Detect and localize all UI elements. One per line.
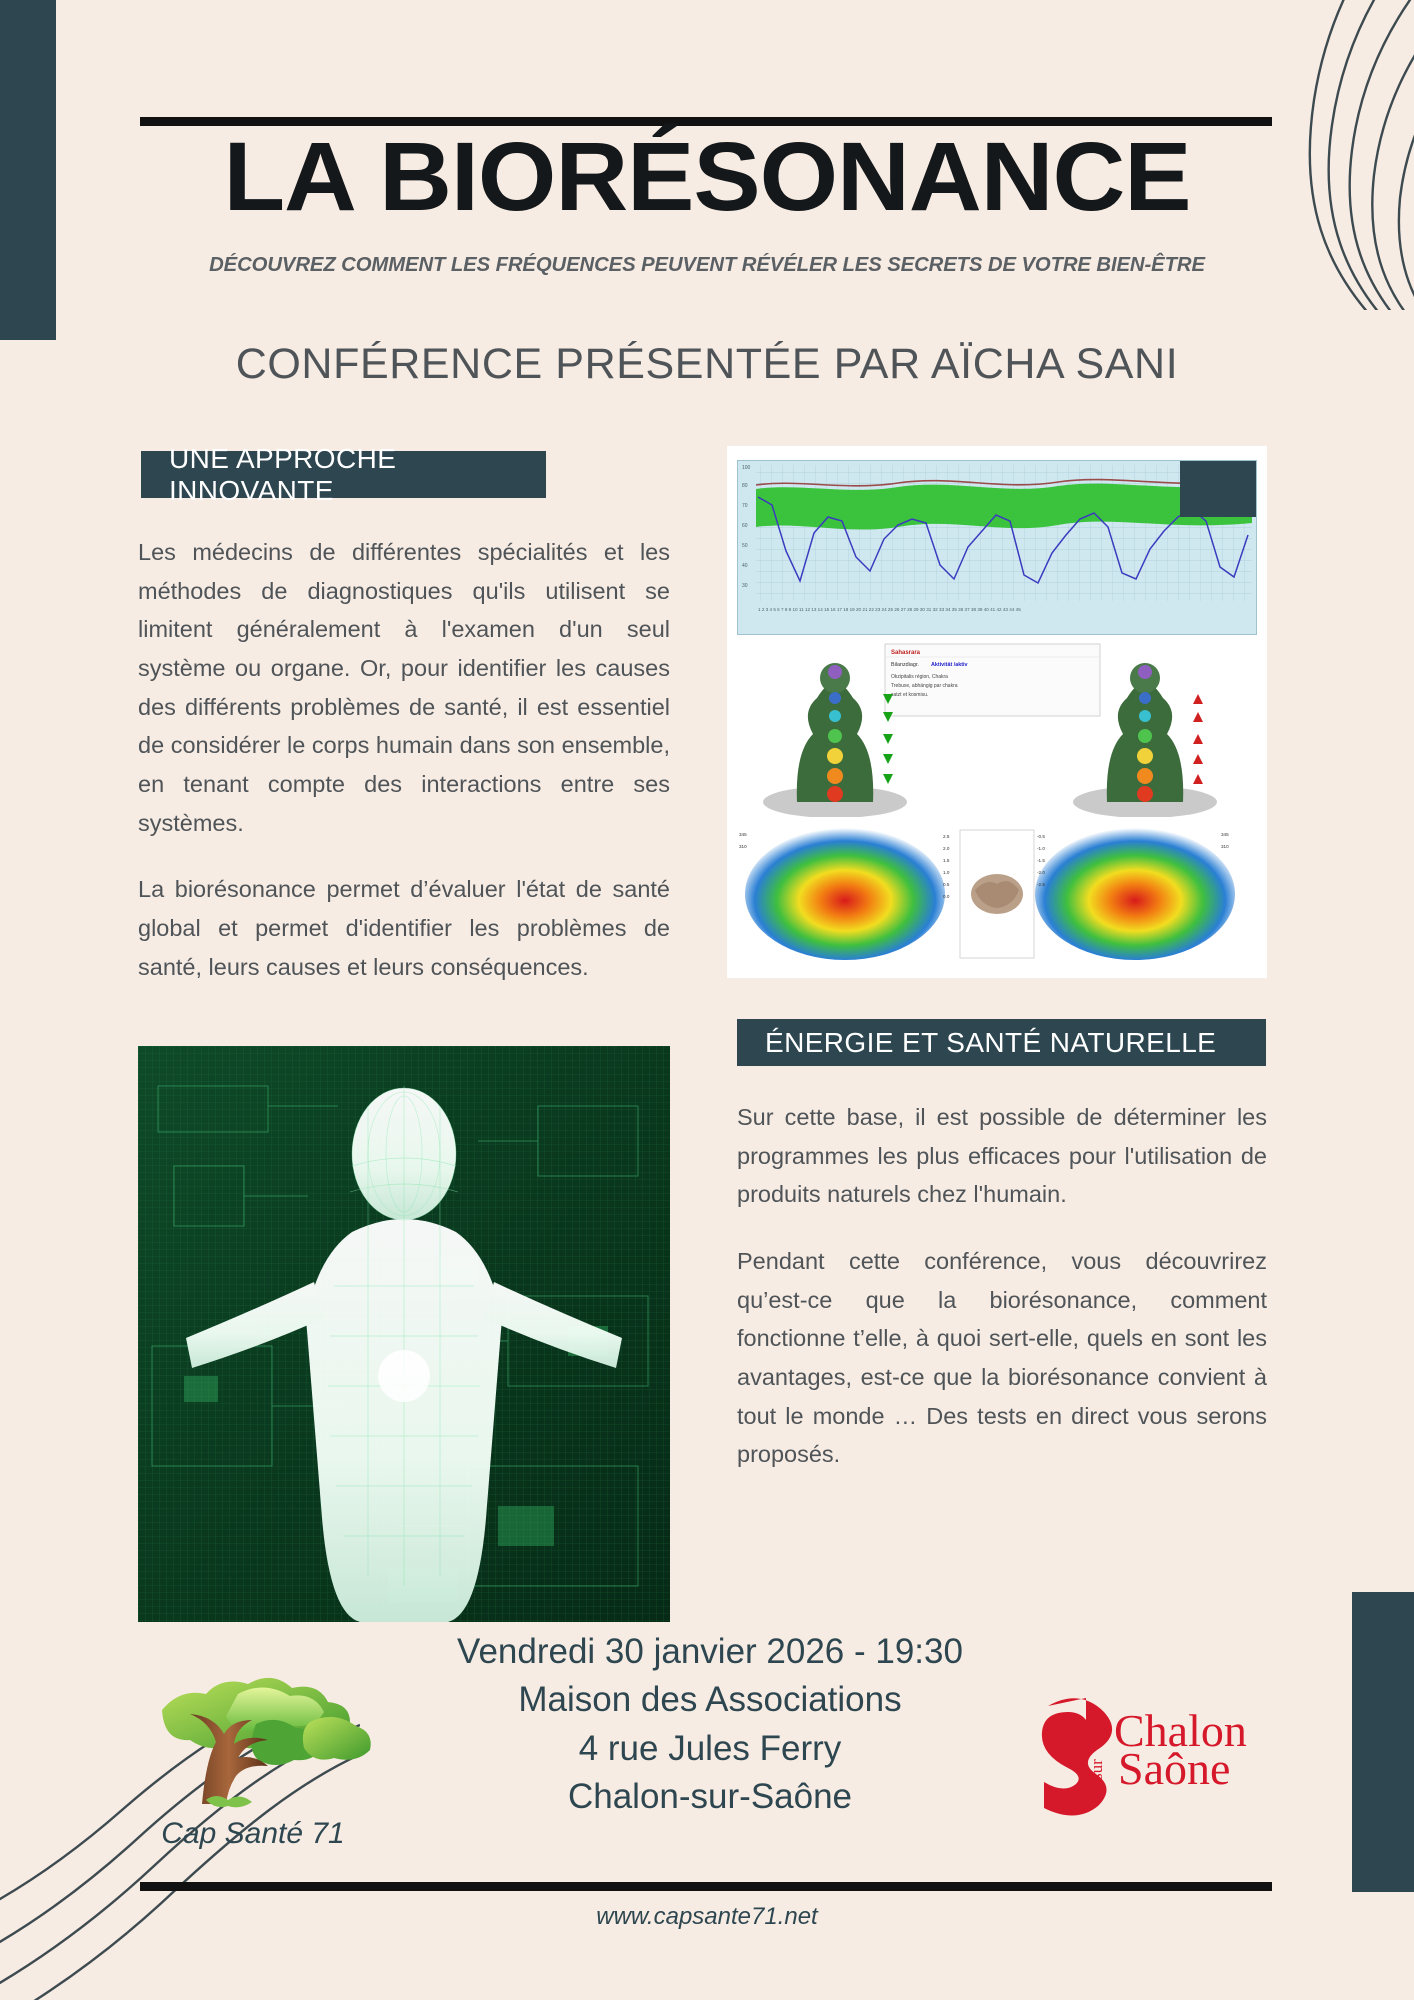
- right-paragraph-2: Pendant cette conférence, vous découvrir…: [737, 1242, 1267, 1474]
- wireframe-body-scan-image: [138, 1046, 670, 1622]
- svg-text:2.0: 2.0: [943, 846, 950, 851]
- wireframe-body-svg: [138, 1046, 670, 1622]
- svg-text:-0.5: -0.5: [1037, 834, 1045, 839]
- svg-text:0.0: 0.0: [943, 894, 950, 899]
- svg-text:-1.5: -1.5: [1037, 858, 1045, 863]
- conference-presenter-line: CONFÉRENCE PRÉSENTÉE PAR AÏCHA SANI: [0, 340, 1414, 389]
- svg-text:-1.0: -1.0: [1037, 846, 1045, 851]
- tree-icon: [128, 1676, 378, 1816]
- svg-text:-2.5: -2.5: [1037, 882, 1045, 887]
- left-paragraph-2: La biorésonance permet d’évaluer l'état …: [138, 870, 670, 986]
- section-header-une-approche-innovante: UNE APPROCHE INNOVANTE: [141, 451, 546, 498]
- svg-text:80: 80: [742, 483, 748, 489]
- svg-text:1 2 3 4 5 6 7 8 9 10 11 12 13: 1 2 3 4 5 6 7 8 9 10 11 12 13 14 15 16 1…: [758, 607, 1021, 612]
- event-street: 4 rue Jules Ferry: [360, 1725, 1060, 1773]
- svg-text:0.5: 0.5: [943, 882, 950, 887]
- event-details: Vendredi 30 janvier 2026 - 19:30 Maison …: [360, 1628, 1060, 1821]
- svg-text:-2.0: -2.0: [1037, 870, 1045, 875]
- cap-sante-71-logo: Cap Santé 71: [128, 1676, 378, 1851]
- footer-rule: [140, 1882, 1272, 1891]
- svg-text:Bilanzdiagr.: Bilanzdiagr.: [891, 662, 919, 668]
- svg-text:1.5: 1.5: [943, 858, 950, 863]
- screenshot-chakra-panel: Sahasrara Bilanzdiagr. Aktivität /aktiv …: [735, 642, 1259, 817]
- svg-text:2.5: 2.5: [943, 834, 950, 839]
- chart-svg: 1008070 605040 30 1 2 3 4 5 6 7 8 9 10 1…: [738, 461, 1256, 634]
- decorative-right-bar: [1352, 1592, 1414, 1892]
- chalon-sur-saone-logo: Chalon Saône sur: [1018, 1680, 1278, 1820]
- chalon-line3: Saône: [1118, 1743, 1230, 1794]
- svg-text:70: 70: [742, 503, 748, 509]
- screenshot-chart-panel: 1008070 605040 30 1 2 3 4 5 6 7 8 9 10 1…: [737, 460, 1257, 635]
- svg-text:1.0: 1.0: [943, 870, 950, 875]
- svg-text:Aktivität /aktiv: Aktivität /aktiv: [931, 662, 968, 668]
- bioresonance-software-screenshots-image: 1008070 605040 30 1 2 3 4 5 6 7 8 9 10 1…: [727, 446, 1267, 978]
- cap-sante-71-label: Cap Santé 71: [128, 1817, 378, 1851]
- section-header-left-label: UNE APPROCHE INNOVANTE: [169, 443, 546, 507]
- svg-text:345: 345: [739, 832, 747, 837]
- page-title: LA BIORÉSONANCE: [0, 128, 1414, 227]
- screenshot-corner-accent: [1180, 461, 1256, 517]
- right-column-text: Sur cette base, il est possible de déter…: [737, 1098, 1267, 1474]
- svg-text:100: 100: [742, 465, 751, 471]
- page-subtitle: DÉCOUVREZ COMMENT LES FRÉQUENCES PEUVENT…: [7, 253, 1407, 277]
- svg-text:310: 310: [1221, 844, 1229, 849]
- svg-text:30: 30: [742, 583, 748, 589]
- svg-text:Okzipitalis région, Chakra: Okzipitalis région, Chakra: [891, 674, 948, 680]
- svg-text:310: 310: [739, 844, 747, 849]
- event-city: Chalon-sur-Saône: [360, 1773, 1060, 1821]
- svg-text:345: 345: [1221, 832, 1229, 837]
- svg-text:60: 60: [742, 523, 748, 529]
- chalon-s-monogram-icon: Chalon Saône sur: [1018, 1680, 1278, 1820]
- svg-text:50: 50: [742, 543, 748, 549]
- event-date-time: Vendredi 30 janvier 2026 - 19:30: [360, 1628, 1060, 1676]
- svg-text:Trebuxe, abhängig par chakra: Trebuxe, abhängig par chakra: [891, 683, 958, 689]
- footer-website[interactable]: www.capsante71.net: [0, 1903, 1414, 1931]
- event-venue: Maison des Associations: [360, 1676, 1060, 1724]
- chalon-line2: sur: [1087, 1759, 1106, 1780]
- right-paragraph-1: Sur cette base, il est possible de déter…: [737, 1098, 1267, 1214]
- section-header-energie-et-sante-naturelle: ÉNERGIE ET SANTÉ NATURELLE: [737, 1019, 1266, 1066]
- left-paragraph-1: Les médecins de différentes spécialités …: [138, 533, 670, 842]
- thermal-svg: 2.52.01.5 1.00.50.0 -0.5-1.0-1.5 -2.0-2.…: [735, 822, 1259, 972]
- left-column-text: Les médecins de différentes spécialités …: [138, 533, 670, 986]
- screenshot-thermal-panel: 2.52.01.5 1.00.50.0 -0.5-1.0-1.5 -2.0-2.…: [735, 822, 1259, 972]
- chakra-svg: Sahasrara Bilanzdiagr. Aktivität /aktiv …: [735, 642, 1259, 817]
- svg-text:40: 40: [742, 563, 748, 569]
- svg-text:satzt et kosmisu.: satzt et kosmisu.: [891, 692, 928, 698]
- poster-root: LA BIORÉSONANCE DÉCOUVREZ COMMENT LES FR…: [0, 0, 1414, 2000]
- svg-text:Sahasrara: Sahasrara: [891, 650, 921, 656]
- section-header-right-label: ÉNERGIE ET SANTÉ NATURELLE: [765, 1027, 1216, 1059]
